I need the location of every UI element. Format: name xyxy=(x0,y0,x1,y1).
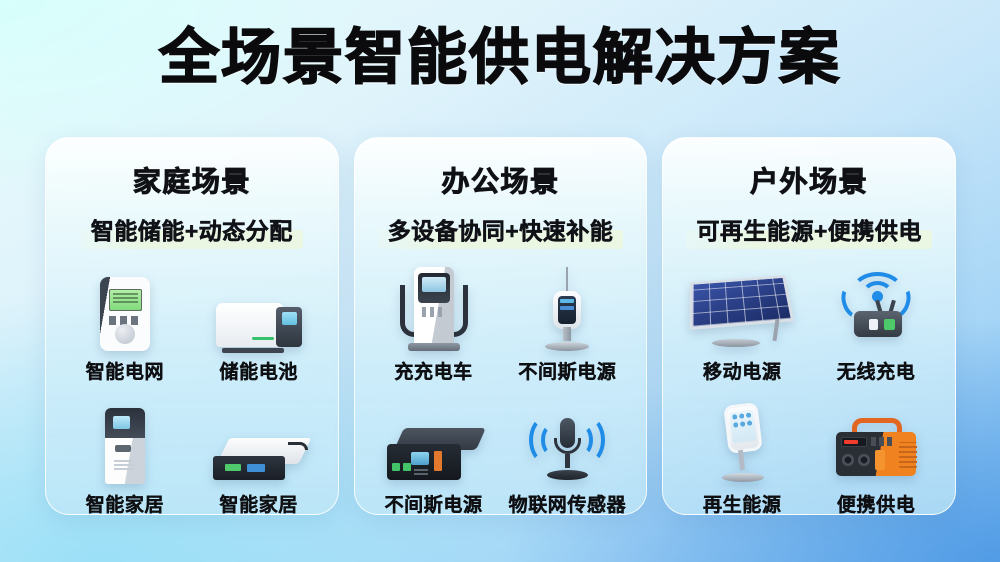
card-subtitle-wrap-outdoor: 可再生能源+便携供电 xyxy=(663,211,955,245)
card-title-outdoor: 户外场景 xyxy=(663,160,955,200)
tablet-stand-icon xyxy=(712,402,772,484)
poster-canvas: 全场景智能供电解决方案 家庭场景 智能储能+动态分配 智能电网 xyxy=(0,0,1000,562)
device-art xyxy=(194,265,324,351)
device-art xyxy=(369,398,499,484)
device-label: 储能电池 xyxy=(220,357,298,384)
device-label: 不间斯电源 xyxy=(518,357,616,384)
device-label: 便携供电 xyxy=(837,490,915,515)
microphone-wireless-icon xyxy=(519,404,615,484)
card-subtitle-wrap-home: 智能储能+动态分配 xyxy=(46,211,338,245)
scenario-card-outdoor[interactable]: 户外场景 可再生能源+便携供电 移动电源 xyxy=(662,137,956,515)
card-subtitle-office: 多设备协同+快速补能 xyxy=(382,211,619,248)
device-item-ups-stand[interactable]: 不间斯电源 xyxy=(501,265,635,384)
smart-meter-icon xyxy=(100,277,150,351)
solar-panel-icon xyxy=(686,273,798,351)
ups-black-box-icon xyxy=(385,426,483,484)
device-art xyxy=(677,398,807,484)
device-art xyxy=(60,398,190,484)
device-art xyxy=(502,265,632,351)
device-label: 智能电网 xyxy=(86,357,164,384)
device-art xyxy=(677,265,807,351)
device-item-storage-battery[interactable]: 储能电池 xyxy=(192,265,326,384)
device-art xyxy=(369,265,499,351)
device-label: 智能家居 xyxy=(220,490,298,515)
device-art xyxy=(811,398,941,484)
scenario-card-office[interactable]: 办公场景 多设备协同+快速补能 充充电车 xyxy=(354,137,648,515)
device-label: 再生能源 xyxy=(703,490,781,515)
device-label: 移动电源 xyxy=(703,357,781,384)
device-item-iot-sensor[interactable]: 物联网传感器 xyxy=(501,398,635,515)
device-art xyxy=(60,265,190,351)
battery-storage-icon xyxy=(216,299,302,351)
device-item-wireless-charge[interactable]: 无线充电 xyxy=(809,265,943,384)
device-label: 充充电车 xyxy=(394,357,472,384)
device-art xyxy=(811,265,941,351)
card-subtitle-outdoor: 可再生能源+便携供电 xyxy=(690,211,927,248)
card-subtitle-home: 智能储能+动态分配 xyxy=(85,211,299,248)
scenario-card-home[interactable]: 家庭场景 智能储能+动态分配 智能电网 xyxy=(45,137,339,515)
device-item-renewable[interactable]: 再生能源 xyxy=(675,398,809,515)
device-label: 物联网传感器 xyxy=(509,490,627,515)
desktop-display-stand-icon xyxy=(539,267,595,351)
usb-hub-box-icon xyxy=(211,434,307,484)
card-title-office: 办公场景 xyxy=(355,160,647,200)
device-item-solar-panel[interactable]: 移动电源 xyxy=(675,265,809,384)
device-label: 不间斯电源 xyxy=(385,490,483,515)
device-art xyxy=(502,398,632,484)
device-label: 智能家居 xyxy=(86,490,164,515)
device-grid-home: 智能电网 储能电池 xyxy=(46,265,338,515)
device-grid-outdoor: 移动电源 无线充电 xyxy=(663,265,955,515)
device-item-smart-home-2[interactable]: 智能家居 xyxy=(192,398,326,515)
device-item-portable-power[interactable]: 便携供电 xyxy=(809,398,943,515)
card-title-home: 家庭场景 xyxy=(46,160,338,200)
device-grid-office: 充充电车 不间斯电源 xyxy=(355,265,647,515)
device-item-smart-grid[interactable]: 智能电网 xyxy=(58,265,192,384)
device-item-smart-home-1[interactable]: 智能家居 xyxy=(58,398,192,515)
device-item-ups-box[interactable]: 不间斯电源 xyxy=(367,398,501,515)
portable-power-station-icon xyxy=(828,418,924,484)
ev-charging-station-icon xyxy=(398,267,470,351)
wireless-router-icon xyxy=(828,271,924,351)
device-item-ev-charger[interactable]: 充充电车 xyxy=(367,265,501,384)
card-subtitle-wrap-office: 多设备协同+快速补能 xyxy=(355,211,647,245)
pedestal-charger-icon xyxy=(105,408,145,484)
device-label: 无线充电 xyxy=(837,357,915,384)
scenario-card-list: 家庭场景 智能储能+动态分配 智能电网 xyxy=(45,137,956,515)
page-title: 全场景智能供电解决方案 xyxy=(0,26,1000,91)
device-art xyxy=(194,398,324,484)
